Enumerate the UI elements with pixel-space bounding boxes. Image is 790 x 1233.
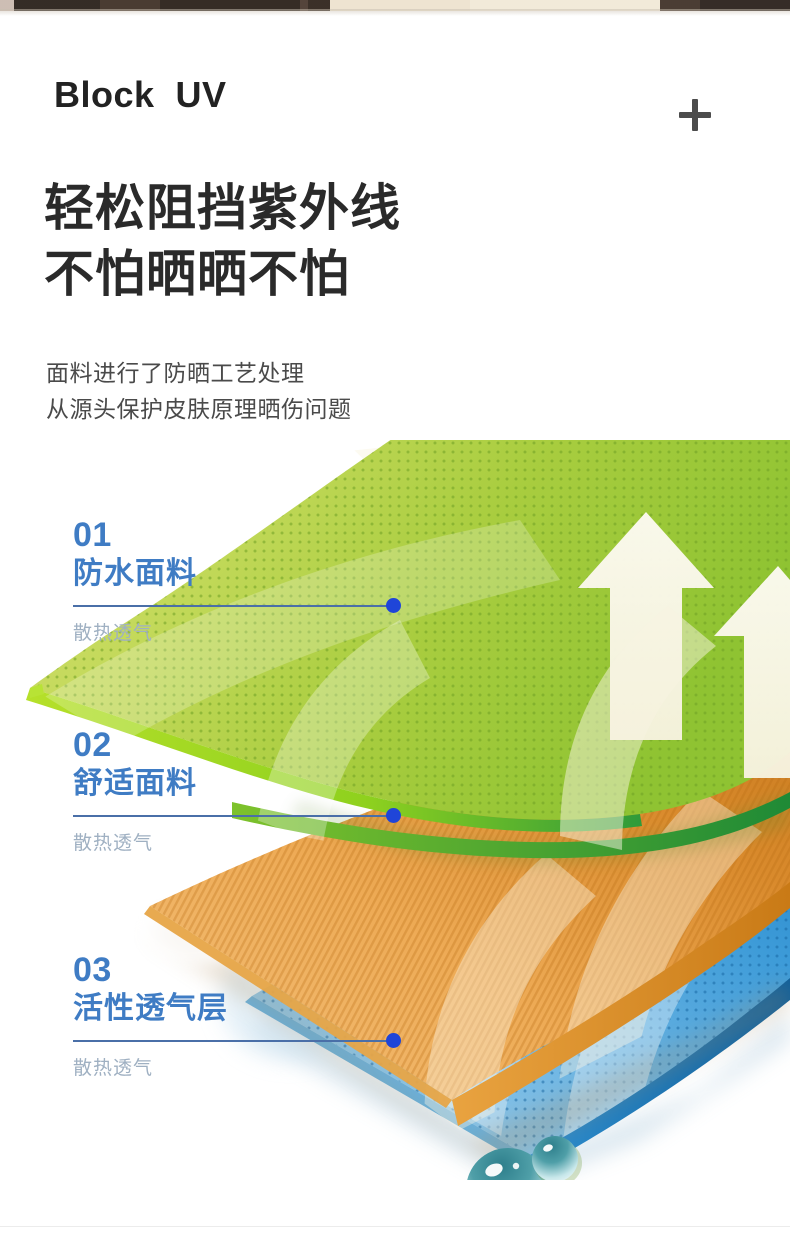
connector-dot — [386, 598, 401, 613]
connector-line — [73, 1040, 395, 1042]
feature-number: 03 — [73, 951, 403, 989]
bottom-divider — [0, 1226, 790, 1227]
connector-dot — [386, 808, 401, 823]
feature-number: 01 — [73, 516, 403, 554]
feature-item-03: 03 活性透气层 散热透气 — [73, 951, 403, 1080]
feature-connector — [73, 808, 403, 824]
connector-line — [73, 605, 395, 607]
feature-subtitle: 散热透气 — [73, 1053, 403, 1080]
feature-subtitle: 散热透气 — [73, 828, 403, 855]
feature-title: 防水面料 — [73, 554, 403, 594]
feature-list: 01 防水面料 散热透气 02 舒适面料 散热透气 03 活性透气层 散热透气 — [0, 0, 790, 1233]
feature-subtitle: 散热透气 — [73, 618, 403, 645]
connector-dot — [386, 1033, 401, 1048]
feature-item-01: 01 防水面料 散热透气 — [73, 516, 403, 645]
feature-connector — [73, 598, 403, 614]
feature-item-02: 02 舒适面料 散热透气 — [73, 726, 403, 855]
feature-title: 舒适面料 — [73, 764, 403, 804]
feature-number: 02 — [73, 726, 403, 764]
feature-title: 活性透气层 — [73, 989, 403, 1029]
feature-connector — [73, 1033, 403, 1049]
connector-line — [73, 815, 395, 817]
